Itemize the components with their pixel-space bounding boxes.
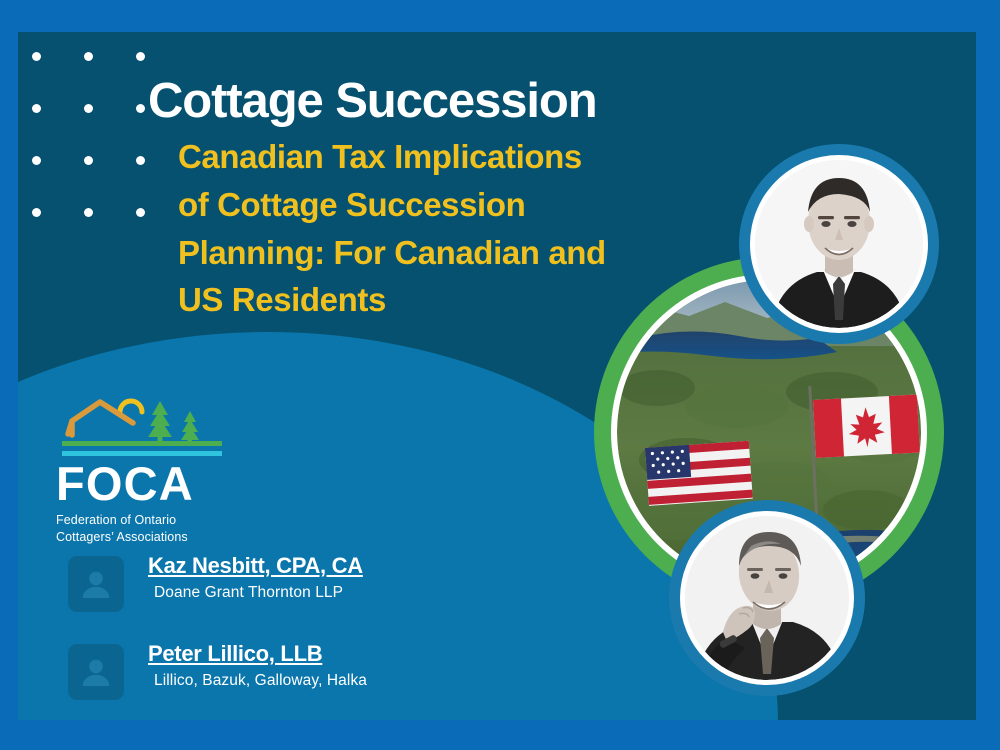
peter-lillico-headshot-photo: [685, 516, 849, 680]
cottage-trees-lake-icon: [56, 394, 228, 456]
speaker-item: Peter Lillico, LLB Lillico, Bazuk, Gallo…: [68, 638, 488, 700]
speaker-organization: Doane Grant Thornton LLP: [154, 582, 363, 604]
grid-dot: [32, 104, 41, 113]
speaker-text: Peter Lillico, LLB Lillico, Bazuk, Gallo…: [148, 638, 367, 692]
slide-canvas: Cottage Succession Canadian Tax Implicat…: [0, 0, 1000, 750]
grid-dot: [136, 208, 145, 217]
grid-dot: [84, 208, 93, 217]
foca-logo: FOCA Federation of Ontario Cottagers’ As…: [56, 394, 236, 545]
image-cluster: [574, 132, 974, 712]
speaker-name[interactable]: Peter Lillico, LLB: [148, 640, 367, 668]
foca-tagline-line2: Cottagers’ Associations: [56, 529, 236, 546]
page-title: Cottage Succession: [148, 76, 768, 127]
speaker-organization: Lillico, Bazuk, Galloway, Halka: [154, 670, 367, 692]
foca-tagline-line1: Federation of Ontario: [56, 512, 236, 529]
grid-dot: [136, 104, 145, 113]
person-glyph-icon: [79, 655, 113, 689]
speaker-name[interactable]: Kaz Nesbitt, CPA, CA: [148, 552, 363, 580]
grid-dot: [84, 52, 93, 61]
grid-dot: [136, 156, 145, 165]
person-icon: [68, 556, 124, 612]
grid-dot: [32, 208, 41, 217]
person-glyph-icon: [79, 567, 113, 601]
grid-dot: [32, 156, 41, 165]
speaker-list: Kaz Nesbitt, CPA, CA Doane Grant Thornto…: [68, 550, 488, 720]
page-subtitle: Canadian Tax Implications of Cottage Suc…: [178, 133, 608, 324]
speaker-item: Kaz Nesbitt, CPA, CA Doane Grant Thornto…: [68, 550, 488, 612]
portrait-bottom-ring: [669, 500, 865, 696]
grid-dot: [32, 52, 41, 61]
portrait-bottom-white-ring: [680, 511, 854, 685]
person-icon: [68, 644, 124, 700]
foca-wordmark: FOCA: [56, 460, 236, 507]
kaz-nesbitt-headshot-photo: [755, 160, 923, 328]
slide-panel: Cottage Succession Canadian Tax Implicat…: [18, 32, 976, 720]
portrait-top-white-ring: [750, 155, 928, 333]
foca-tagline: Federation of Ontario Cottagers’ Associa…: [56, 512, 236, 545]
grid-dot: [84, 156, 93, 165]
speaker-text: Kaz Nesbitt, CPA, CA Doane Grant Thornto…: [148, 550, 363, 604]
portrait-top-ring: [739, 144, 939, 344]
grid-dot: [84, 104, 93, 113]
grid-dot: [136, 52, 145, 61]
